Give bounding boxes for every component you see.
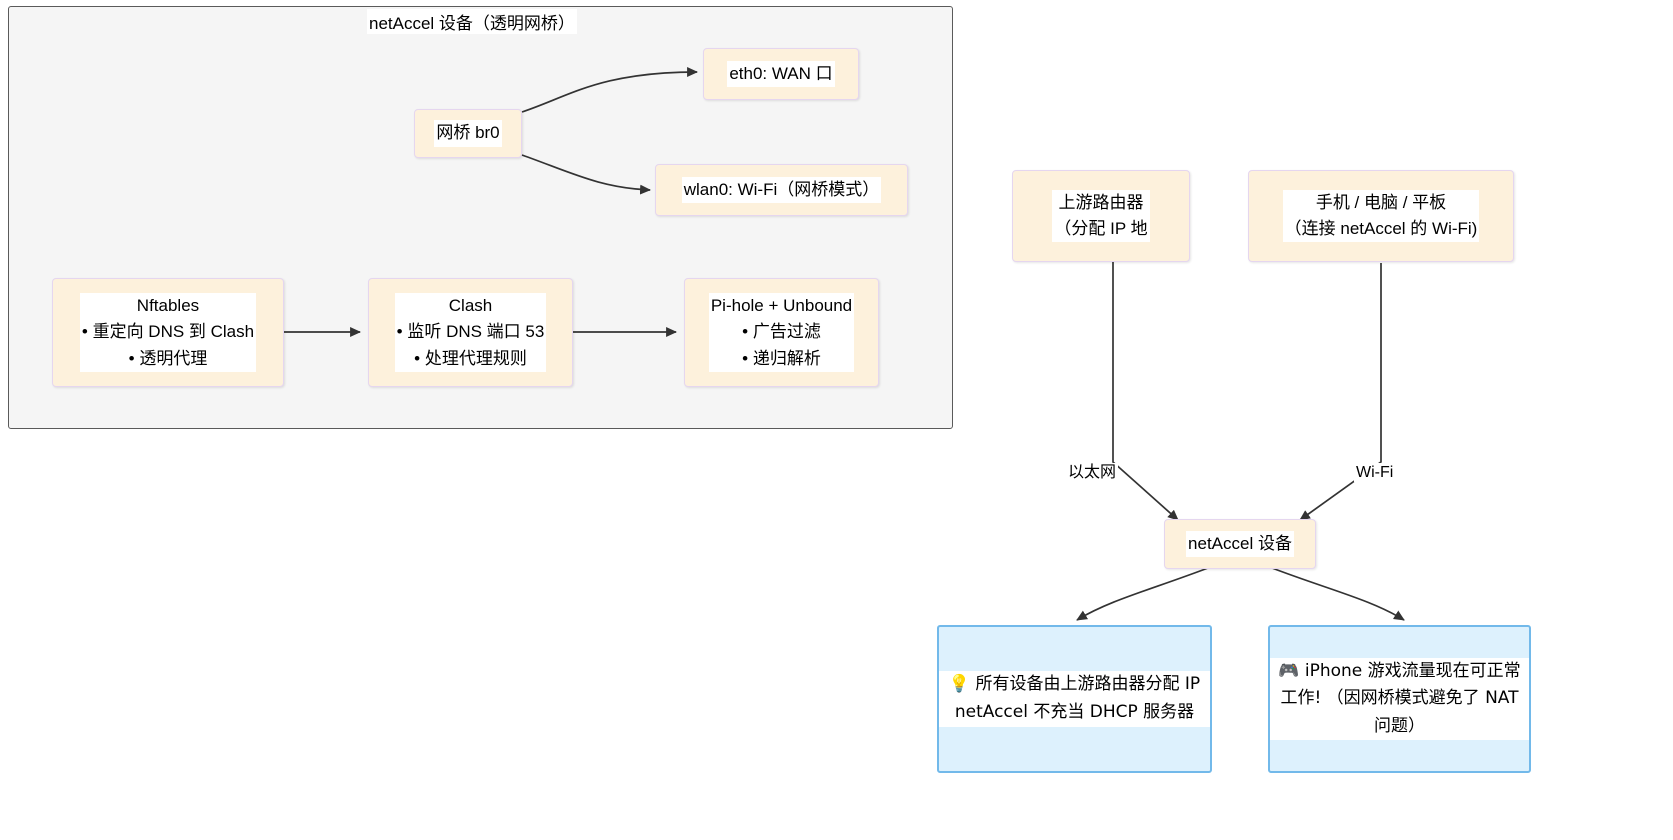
note-dhcp[interactable]: 💡 所有设备由上游路由器分配 IP netAccel 不充当 DHCP 服务器 bbox=[937, 625, 1212, 773]
node-pihole-unbound-label: Pi-hole + Unbound • 广告过滤 • 递归解析 bbox=[709, 293, 854, 372]
node-wlan0-wifi-label: wlan0: Wi-Fi（网桥模式） bbox=[682, 177, 882, 203]
node-nftables-label: Nftables • 重定向 DNS 到 Clash • 透明代理 bbox=[80, 293, 256, 372]
edge-label-ethernet: 以太网 bbox=[1066, 463, 1118, 482]
edge-device-note-game bbox=[1272, 568, 1404, 620]
node-clash[interactable]: Clash • 监听 DNS 端口 53 • 处理代理规则 bbox=[368, 278, 573, 387]
diagram-canvas: netAccel 设备（透明网桥） 网桥 br0 eth0: WAN 口 wla… bbox=[0, 0, 1673, 840]
node-bridge-br0-label: 网桥 br0 bbox=[434, 120, 501, 146]
node-clash-label: Clash • 监听 DNS 端口 53 • 处理代理规则 bbox=[395, 293, 547, 372]
edge-router-device bbox=[1113, 262, 1178, 520]
subgraph-title: netAccel 设备（透明网桥） bbox=[367, 9, 577, 34]
node-pihole-unbound[interactable]: Pi-hole + Unbound • 广告过滤 • 递归解析 bbox=[684, 278, 879, 387]
node-netaccel-device[interactable]: netAccel 设备 bbox=[1164, 519, 1316, 569]
note-game-traffic-label: 🎮 iPhone 游戏流量现在可正常工作! （因网桥模式避免了 NAT 问题） bbox=[1270, 658, 1529, 741]
node-client-devices[interactable]: 手机 / 电脑 / 平板 （连接 netAccel 的 Wi-Fi) bbox=[1248, 170, 1514, 262]
node-upstream-router-label: 上游路由器 （分配 IP 地 bbox=[1052, 190, 1149, 243]
node-wlan0-wifi[interactable]: wlan0: Wi-Fi（网桥模式） bbox=[655, 164, 908, 216]
edge-label-wifi: Wi-Fi bbox=[1354, 463, 1395, 482]
node-upstream-router[interactable]: 上游路由器 （分配 IP 地 bbox=[1012, 170, 1190, 262]
node-nftables[interactable]: Nftables • 重定向 DNS 到 Clash • 透明代理 bbox=[52, 278, 284, 387]
node-client-devices-label: 手机 / 电脑 / 平板 （连接 netAccel 的 Wi-Fi) bbox=[1283, 190, 1480, 243]
node-bridge-br0[interactable]: 网桥 br0 bbox=[414, 109, 522, 158]
node-eth0-wan-label: eth0: WAN 口 bbox=[727, 61, 834, 87]
note-dhcp-label: 💡 所有设备由上游路由器分配 IP netAccel 不充当 DHCP 服务器 bbox=[939, 671, 1210, 726]
edge-device-note-dhcp bbox=[1077, 568, 1208, 620]
note-game-traffic[interactable]: 🎮 iPhone 游戏流量现在可正常工作! （因网桥模式避免了 NAT 问题） bbox=[1268, 625, 1531, 773]
node-eth0-wan[interactable]: eth0: WAN 口 bbox=[703, 48, 859, 100]
node-netaccel-device-label: netAccel 设备 bbox=[1186, 531, 1294, 557]
